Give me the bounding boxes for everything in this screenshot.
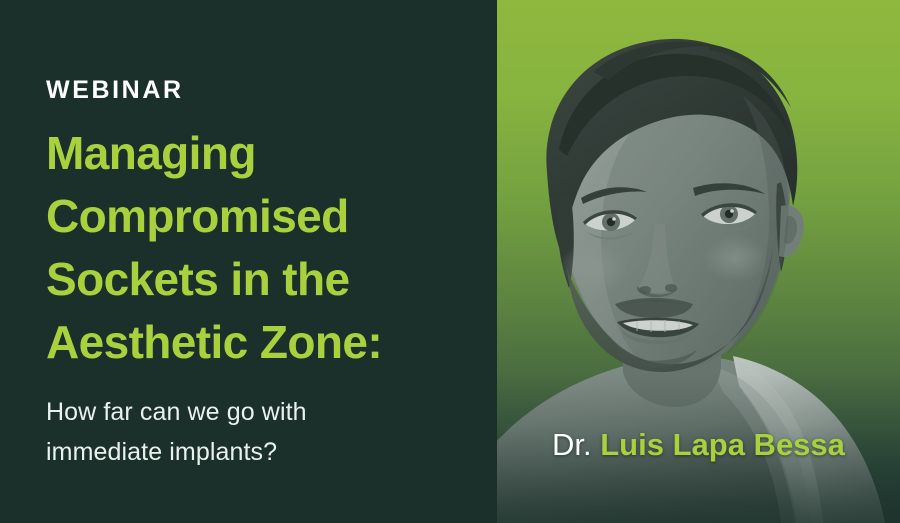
webinar-subtitle: How far can we go with immediate implant… bbox=[46, 392, 466, 472]
left-text-panel: WEBINAR Managing Compromised Sockets in … bbox=[0, 0, 497, 523]
webinar-title: Managing Compromised Sockets in the Aest… bbox=[46, 122, 466, 374]
title-line-4: Aesthetic Zone: bbox=[46, 311, 466, 374]
webinar-promo-banner: WEBINAR Managing Compromised Sockets in … bbox=[0, 0, 900, 523]
eyebrow-label: WEBINAR bbox=[46, 78, 184, 103]
speaker-name-value: Luis Lapa Bessa bbox=[600, 427, 845, 462]
subtitle-line-2: immediate implants? bbox=[46, 432, 466, 472]
speaker-name-prefix: Dr. bbox=[552, 427, 592, 462]
title-line-1: Managing bbox=[46, 122, 466, 185]
title-line-3: Sockets in the bbox=[46, 248, 466, 311]
speaker-name: Dr. Luis Lapa Bessa bbox=[552, 426, 845, 464]
title-line-2: Compromised bbox=[46, 185, 466, 248]
subtitle-line-1: How far can we go with bbox=[46, 392, 466, 432]
